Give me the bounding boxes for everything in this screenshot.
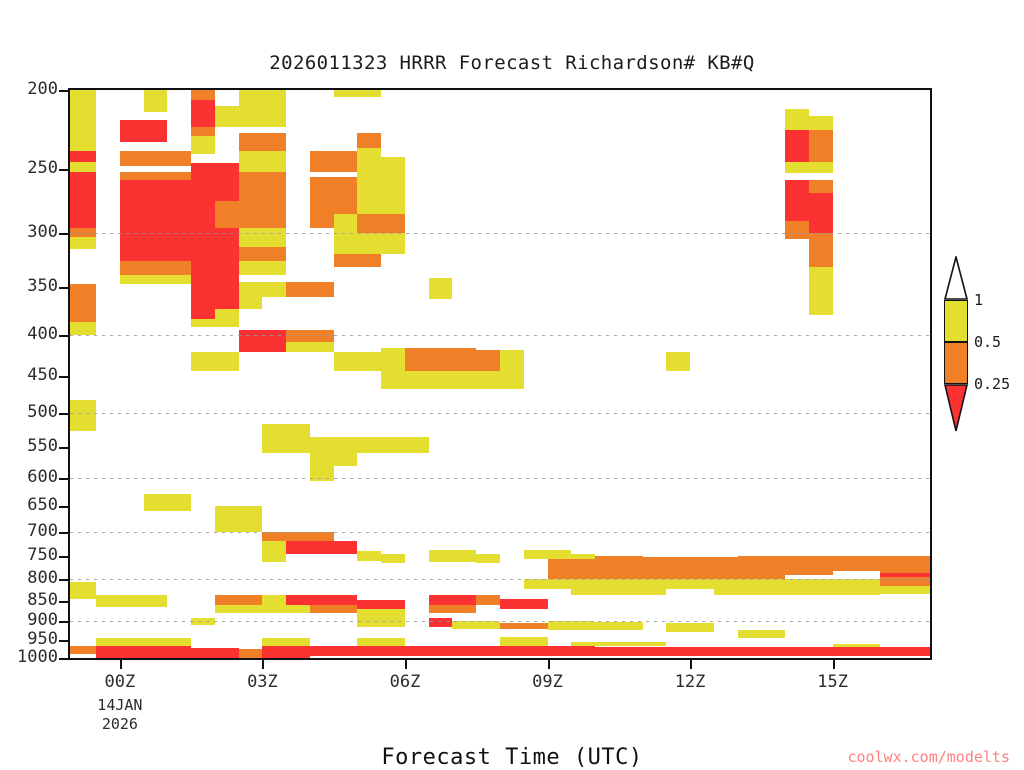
colorbar-legend: 10.50.25 [944, 300, 968, 468]
y-tick-label: 400 [27, 324, 58, 344]
y-axis: 2002503003504004505005506006507007508008… [0, 88, 68, 660]
x-tick-label: 00Z [105, 672, 136, 692]
y-tick-mark [59, 447, 68, 449]
x-tick-label: 03Z [247, 672, 278, 692]
x-tick-mark [405, 660, 407, 669]
x-tick-mark [690, 660, 692, 669]
y-tick-mark [59, 287, 68, 289]
y-tick-label: 1000 [17, 647, 58, 667]
gridline [70, 658, 930, 659]
colorbar-tick-label: 1 [974, 291, 983, 309]
y-tick-mark [59, 376, 68, 378]
colorbar-tick-label: 0.5 [974, 333, 1001, 351]
y-tick-mark [59, 601, 68, 603]
y-tick-mark [59, 413, 68, 415]
y-tick-mark [59, 506, 68, 508]
y-tick-label: 550 [27, 436, 58, 456]
y-tick-mark [59, 579, 68, 581]
x-tick-label: 09Z [532, 672, 563, 692]
y-tick-label: 750 [27, 545, 58, 565]
chart-title: 2026011323 HRRR Forecast Richardson# KB#… [0, 52, 1024, 74]
y-tick-mark [59, 658, 68, 660]
terrain-band [70, 90, 930, 658]
x-tick-mark [262, 660, 264, 669]
y-tick-label: 650 [27, 495, 58, 515]
y-tick-label: 950 [27, 629, 58, 649]
y-tick-mark [59, 90, 68, 92]
y-tick-label: 350 [27, 276, 58, 296]
x-tick-mark [833, 660, 835, 669]
y-tick-label: 600 [27, 467, 58, 487]
y-tick-label: 250 [27, 158, 58, 178]
colorbar-arrow-up [944, 256, 968, 300]
colorbar-tick-label: 0.25 [974, 375, 1010, 393]
y-tick-label: 500 [27, 402, 58, 422]
plot-area [68, 88, 932, 660]
y-tick-label: 800 [27, 568, 58, 588]
x-tick-label: 15Z [817, 672, 848, 692]
y-tick-mark [59, 640, 68, 642]
x-tick-label: 12Z [675, 672, 706, 692]
x-tick-mark [548, 660, 550, 669]
x-axis-date-label: 14JAN 2026 [97, 696, 142, 734]
y-tick-mark [59, 169, 68, 171]
x-tick-mark [120, 660, 122, 669]
y-tick-mark [59, 621, 68, 623]
y-tick-label: 200 [27, 79, 58, 99]
colorbar-band [944, 342, 968, 384]
y-tick-mark [59, 556, 68, 558]
y-tick-label: 450 [27, 365, 58, 385]
y-tick-mark [59, 233, 68, 235]
y-tick-label: 700 [27, 521, 58, 541]
y-tick-label: 850 [27, 590, 58, 610]
y-tick-label: 900 [27, 610, 58, 630]
y-tick-mark [59, 532, 68, 534]
colorbar-band [944, 300, 968, 342]
watermark: coolwx.com/modelts [847, 748, 1010, 766]
chart-canvas: 2026011323 HRRR Forecast Richardson# KB#… [0, 0, 1024, 768]
y-tick-mark [59, 478, 68, 480]
y-tick-label: 300 [27, 222, 58, 242]
y-tick-mark [59, 335, 68, 337]
colorbar-arrow-down [944, 384, 968, 432]
x-tick-label: 06Z [390, 672, 421, 692]
